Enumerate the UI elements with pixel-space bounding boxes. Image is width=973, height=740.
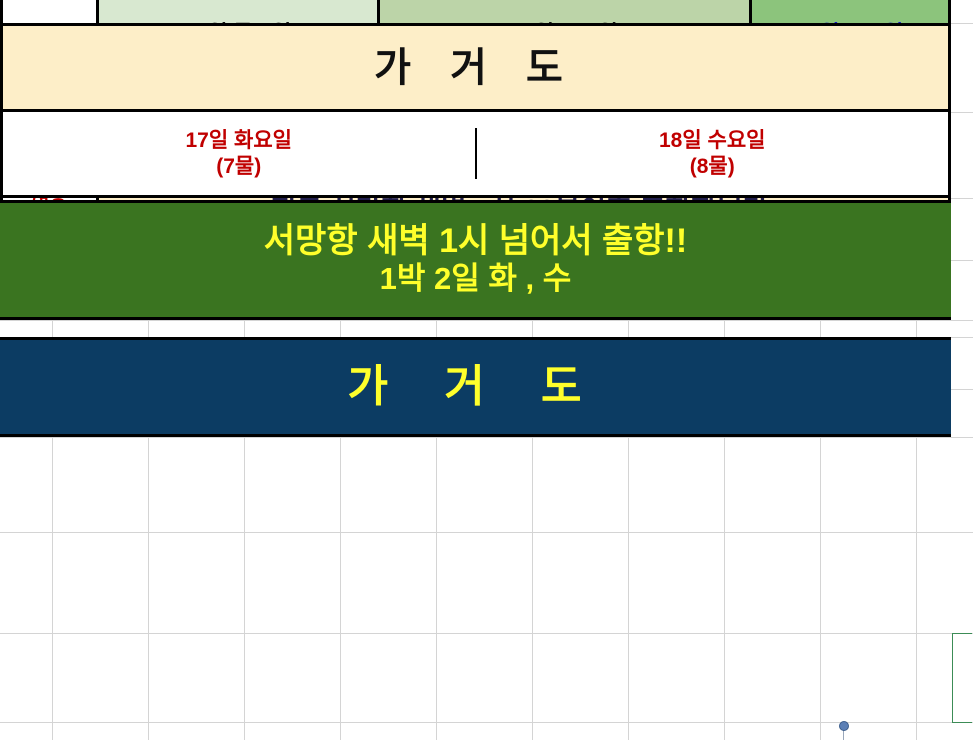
grid-row-line xyxy=(0,722,973,723)
schedule-sheet: 가 거 도 17일 화요일 (7물) 18일 수요일 (8물) 서망항 새벽 1… xyxy=(0,0,951,291)
grid-row-line xyxy=(0,633,973,634)
grid-row-line xyxy=(0,437,973,438)
cell-selection-outline[interactable] xyxy=(952,633,972,723)
selection-fill-handle[interactable] xyxy=(839,721,849,731)
date-cell-17-day: 17일 화요일 xyxy=(186,128,292,154)
section-two-title-banner[interactable]: 가 거 도 xyxy=(0,337,951,437)
date-cell-18-day: 18일 수요일 xyxy=(659,128,765,154)
section-one-date-row: 17일 화요일 (7물) 18일 수요일 (8물) xyxy=(0,112,951,198)
grid-row-line xyxy=(0,320,973,321)
section-one-title-cell[interactable]: 가 거 도 xyxy=(0,23,951,112)
section-one-title: 가 거 도 xyxy=(374,48,577,88)
date-cell-18[interactable]: 18일 수요일 (8물) xyxy=(475,128,949,179)
date-cell-17-tide: (7물) xyxy=(216,154,261,180)
date-cell-18-tide: (8물) xyxy=(690,154,735,180)
date-cell-17[interactable]: 17일 화요일 (7물) xyxy=(3,128,475,179)
section-one-notice-banner[interactable]: 서망항 새벽 1시 넘어서 출항!! 1박 2일 화 , 수 xyxy=(0,200,951,320)
grid-row-line xyxy=(0,532,973,533)
notice-line-2: 1박 2일 화 , 수 xyxy=(380,261,572,298)
section-two-title: 가 거 도 xyxy=(348,365,604,409)
notice-line-1: 서망항 새벽 1시 넘어서 출항!! xyxy=(264,222,687,261)
